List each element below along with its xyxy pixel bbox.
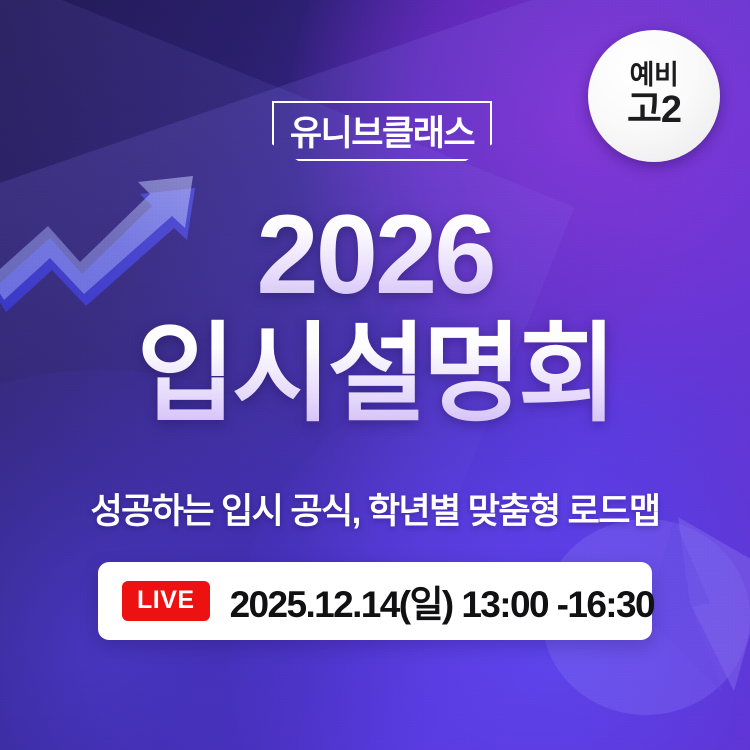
headline-year: 2026 <box>0 196 750 314</box>
brand-logo: 유니브클래스 <box>272 101 492 161</box>
live-badge: LIVE <box>122 581 210 621</box>
headline-title: 입시설명회 <box>0 314 750 435</box>
event-info-bar: LIVE 2025.12.14(일) 13:00 -16:30 <box>98 562 652 640</box>
brand-logo-text: 유니브클래스 <box>272 101 492 161</box>
subtitle: 성공하는 입시 공식, 학년별 맞춤형 로드맵 <box>0 483 750 534</box>
grade-badge-line2: 고2 <box>627 91 681 131</box>
promo-banner: 예비 고2 유니브클래스 2026 입시설명회 성공하는 입시 공식, 학년별 … <box>0 0 750 750</box>
grade-badge-line1: 예비 <box>630 61 679 89</box>
event-datetime: 2025.12.14(일) 13:00 -16:30 <box>230 574 654 628</box>
headline: 2026 입시설명회 <box>0 196 750 435</box>
grade-badge: 예비 고2 <box>588 30 720 162</box>
